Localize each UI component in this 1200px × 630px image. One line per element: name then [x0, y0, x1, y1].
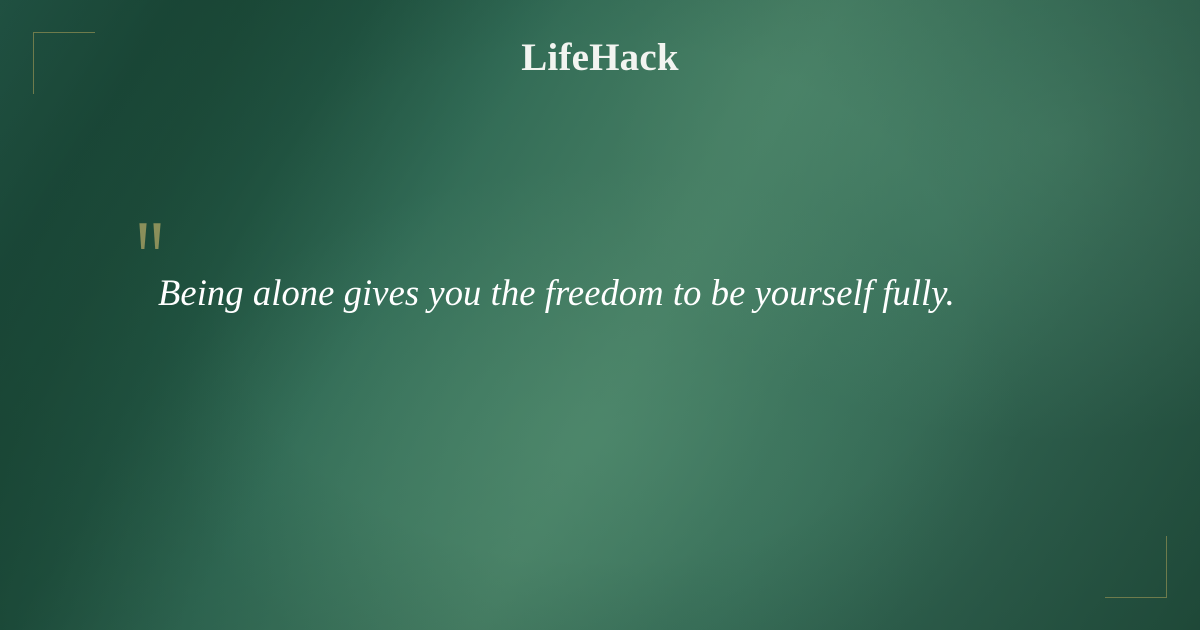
quote-text: Being alone gives you the freedom to be … — [158, 270, 1096, 317]
quote-block: Being alone gives you the freedom to be … — [136, 222, 1096, 317]
corner-bracket-icon-bottom-right — [1105, 536, 1167, 598]
brand-wordmark: LifeHack — [0, 38, 1200, 77]
double-quote-icon — [136, 222, 170, 256]
quote-card: LifeHack Being alone gives you the freed… — [0, 0, 1200, 630]
